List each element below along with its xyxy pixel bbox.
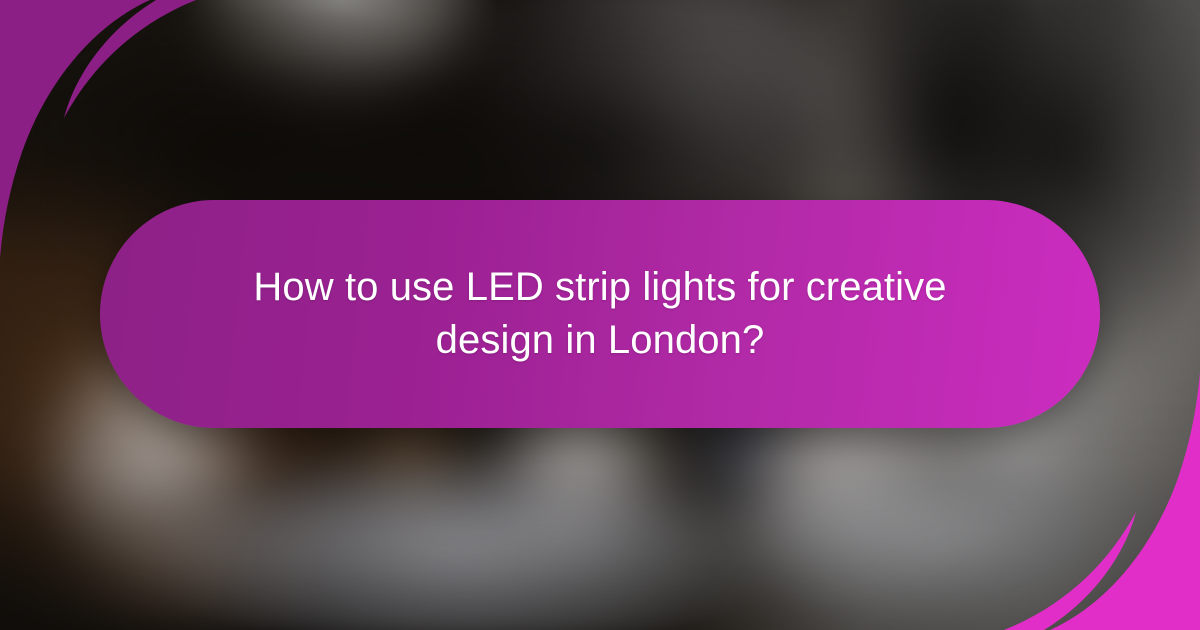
social-share-card: How to use LED strip lights for creative… — [0, 0, 1200, 630]
title-card: How to use LED strip lights for creative… — [100, 200, 1100, 428]
page-title: How to use LED strip lights for creative… — [220, 261, 980, 367]
